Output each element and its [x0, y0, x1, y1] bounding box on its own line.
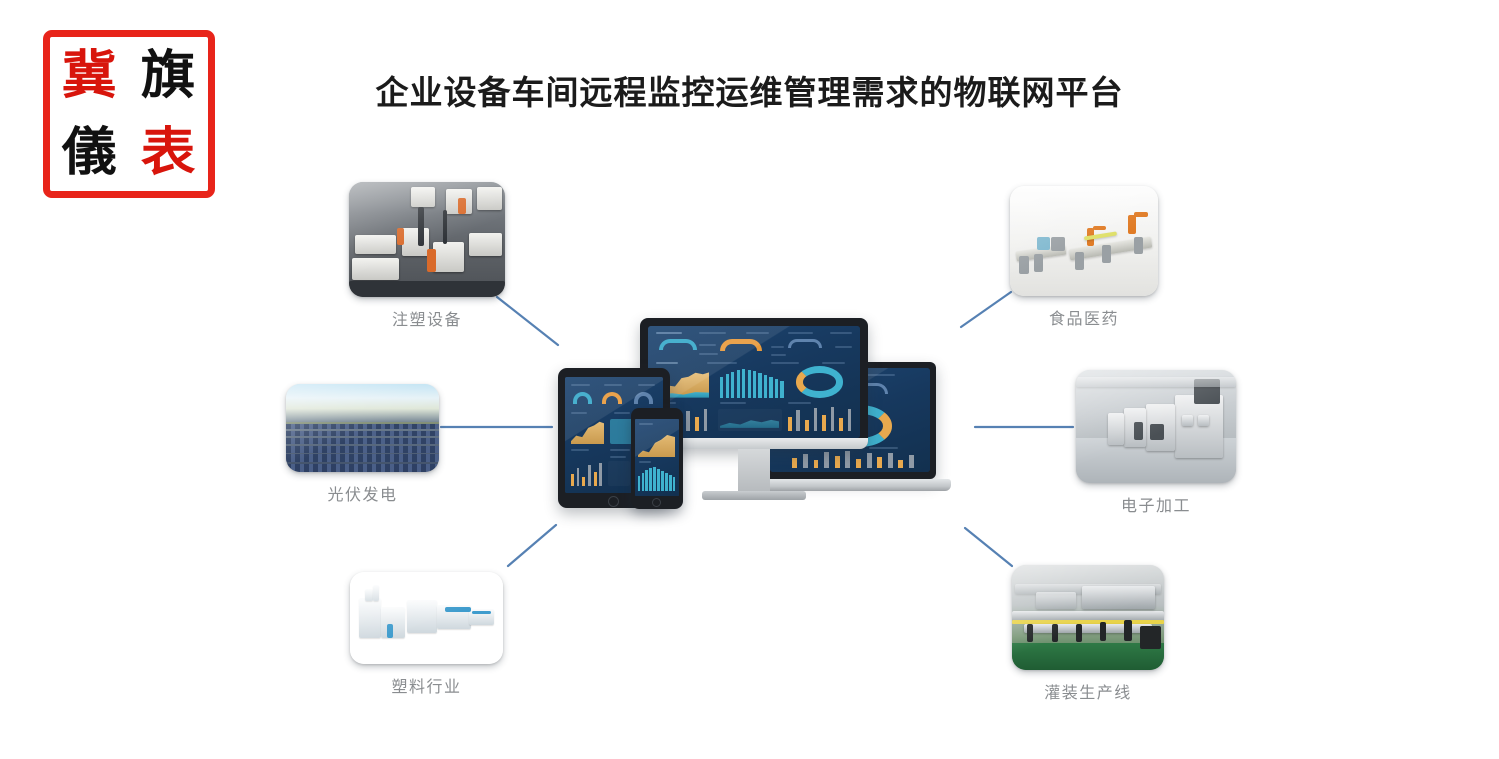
thumbnail-food-pharma [1010, 186, 1158, 296]
company-logo: 冀 旗 儀 表 [43, 30, 215, 198]
node-plastics-industry[interactable]: 塑料行业 [350, 572, 503, 697]
logo-char-4: 表 [141, 127, 196, 179]
node-label-filling-line: 灌装生产线 [1012, 679, 1164, 703]
node-label-injection-molding: 注塑设备 [349, 306, 505, 330]
thumbnail-plastics-industry [350, 572, 503, 664]
thumbnail-injection-molding [349, 182, 505, 297]
phone-screen [635, 419, 679, 496]
slide-canvas: 冀 旗 儀 表 企业设备车间远程监控运维管理需求的物联网平台 [0, 0, 1499, 759]
phone-home-button[interactable] [652, 498, 661, 507]
node-electronics[interactable]: 电子加工 [1076, 370, 1236, 516]
tablet-home-button[interactable] [608, 496, 619, 507]
device-cluster [552, 300, 972, 515]
node-label-electronics: 电子加工 [1076, 492, 1236, 516]
node-photovoltaic[interactable]: 光伏发电 [286, 384, 439, 505]
monitor-foot [702, 491, 806, 500]
node-injection-molding[interactable]: 注塑设备 [349, 182, 505, 330]
page-title: 企业设备车间远程监控运维管理需求的物联网平台 [0, 66, 1499, 114]
node-label-photovoltaic: 光伏发电 [286, 481, 439, 505]
logo-char-3: 儀 [62, 127, 117, 179]
connector-injection-molding [497, 297, 558, 345]
thumbnail-electronics [1076, 370, 1236, 483]
node-label-plastics-industry: 塑料行业 [350, 673, 503, 697]
thumbnail-filling-line [1012, 565, 1164, 670]
device-phone[interactable] [631, 408, 683, 509]
monitor-stand [738, 449, 770, 491]
thumbnail-photovoltaic [286, 384, 439, 472]
node-food-pharma[interactable]: 食品医药 [1010, 186, 1158, 329]
node-label-food-pharma: 食品医药 [1010, 305, 1158, 329]
connector-plastics-industry [508, 525, 556, 566]
connector-filling-line [965, 528, 1012, 566]
node-filling-line[interactable]: 灌装生产线 [1012, 565, 1164, 703]
